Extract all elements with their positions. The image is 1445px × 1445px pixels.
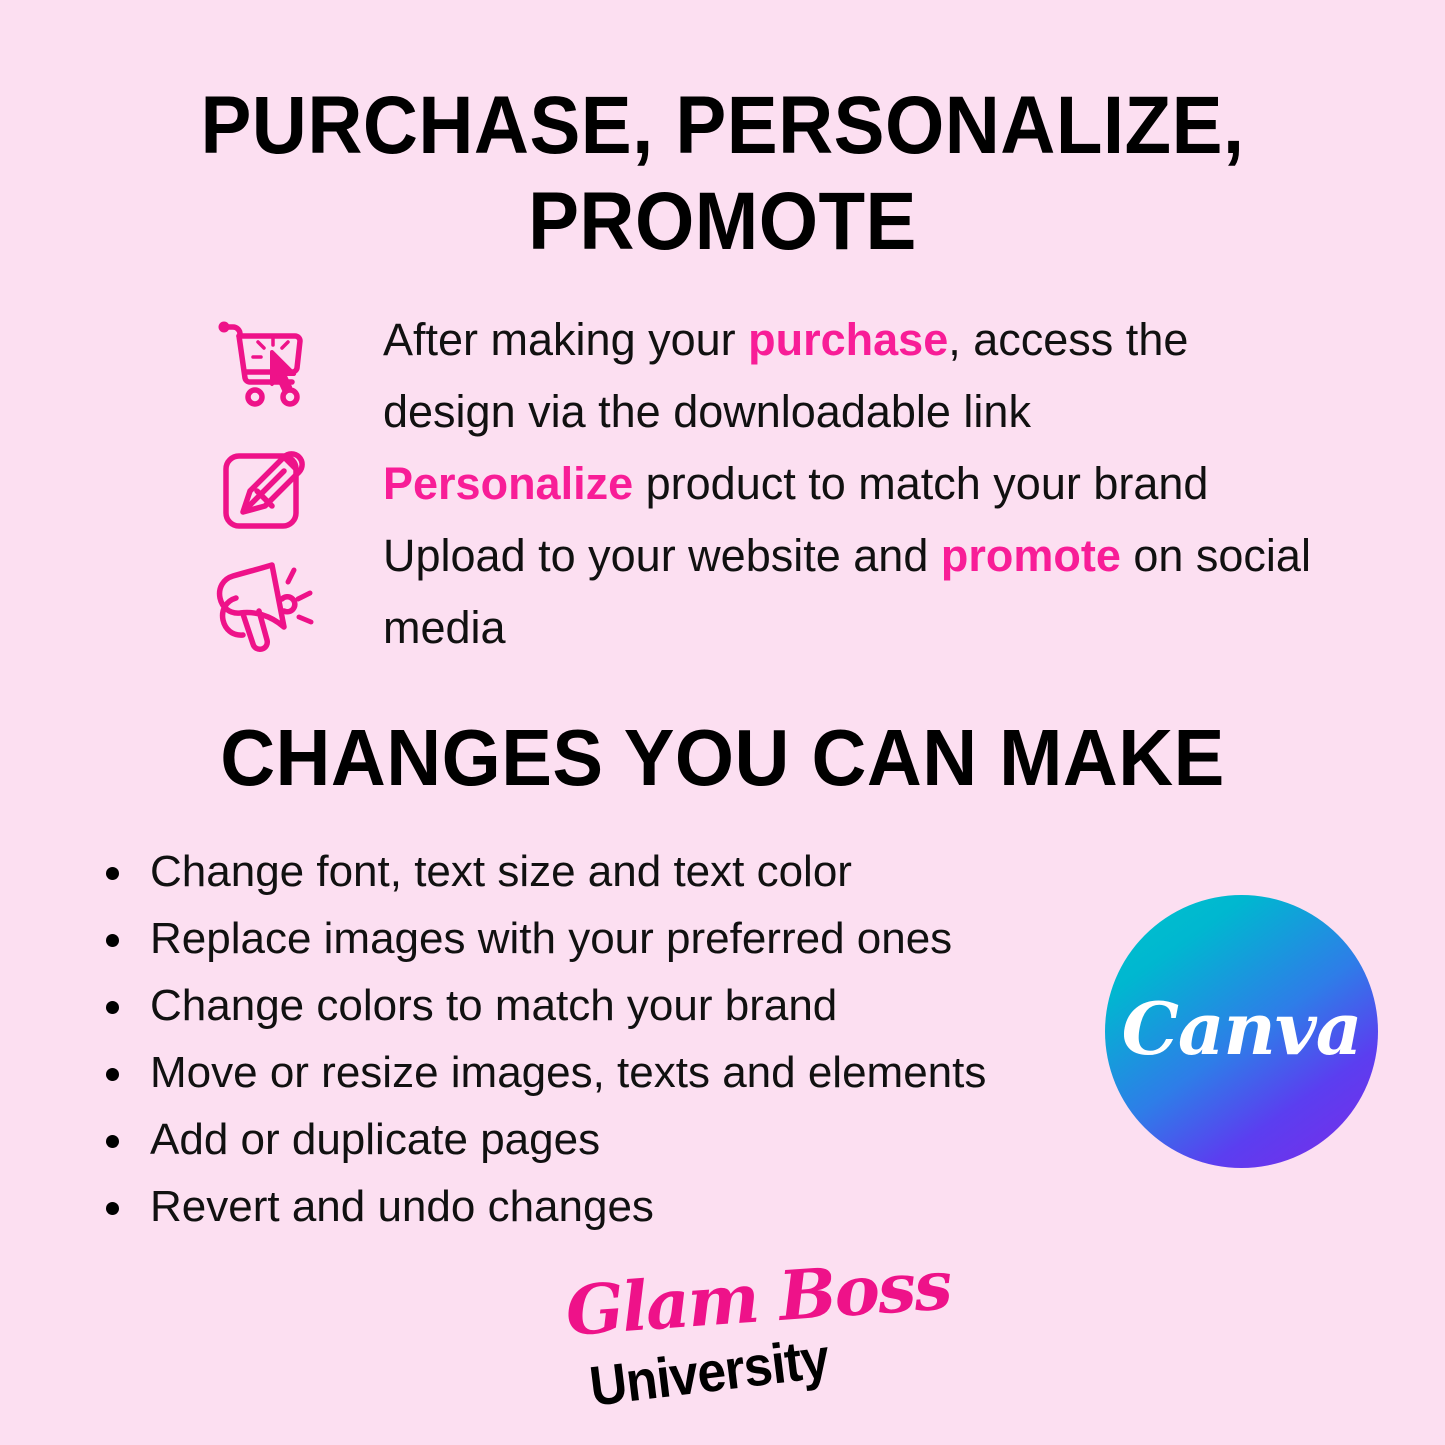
shopping-cart-click-icon	[210, 307, 322, 419]
steps-section: After making your purchase, access the d…	[0, 300, 1445, 670]
step-line-3: Upload to your website and promote on so…	[383, 520, 1313, 664]
canva-logo-badge: Canva	[1105, 895, 1378, 1168]
canva-wordmark: Canva	[1105, 895, 1378, 1168]
changes-bullet-list: Change font, text size and text color Re…	[100, 838, 1100, 1240]
step-3-lead: Upload to your website and	[383, 530, 941, 581]
pencil-edit-icon	[210, 434, 322, 546]
list-item: Change colors to match your brand	[100, 972, 1100, 1039]
megaphone-icon	[210, 543, 322, 655]
list-item: Move or resize images, texts and element…	[100, 1039, 1100, 1106]
section-title-changes: CHANGES YOU CAN MAKE	[131, 712, 1314, 804]
brand-logo: Glam Boss University	[560, 1272, 900, 1432]
page-title: PURCHASE, PERSONALIZE, PROMOTE	[190, 78, 1255, 270]
list-item: Change font, text size and text color	[100, 838, 1100, 905]
step-2-highlight: Personalize	[383, 458, 633, 509]
step-1-highlight: purchase	[748, 314, 948, 365]
step-3-highlight: promote	[941, 530, 1121, 581]
poster-canvas: PURCHASE, PERSONALIZE, PROMOTE	[0, 0, 1445, 1445]
step-line-1: After making your purchase, access the d…	[383, 304, 1313, 448]
step-text-column: After making your purchase, access the d…	[383, 304, 1313, 664]
step-1-lead: After making your	[383, 314, 748, 365]
list-item: Replace images with your preferred ones	[100, 905, 1100, 972]
step-2-tail: product to match your brand	[633, 458, 1208, 509]
step-line-2: Personalize product to match your brand	[383, 448, 1313, 520]
step-icon-column	[210, 300, 330, 670]
list-item: Add or duplicate pages	[100, 1106, 1100, 1173]
list-item: Revert and undo changes	[100, 1173, 1100, 1240]
